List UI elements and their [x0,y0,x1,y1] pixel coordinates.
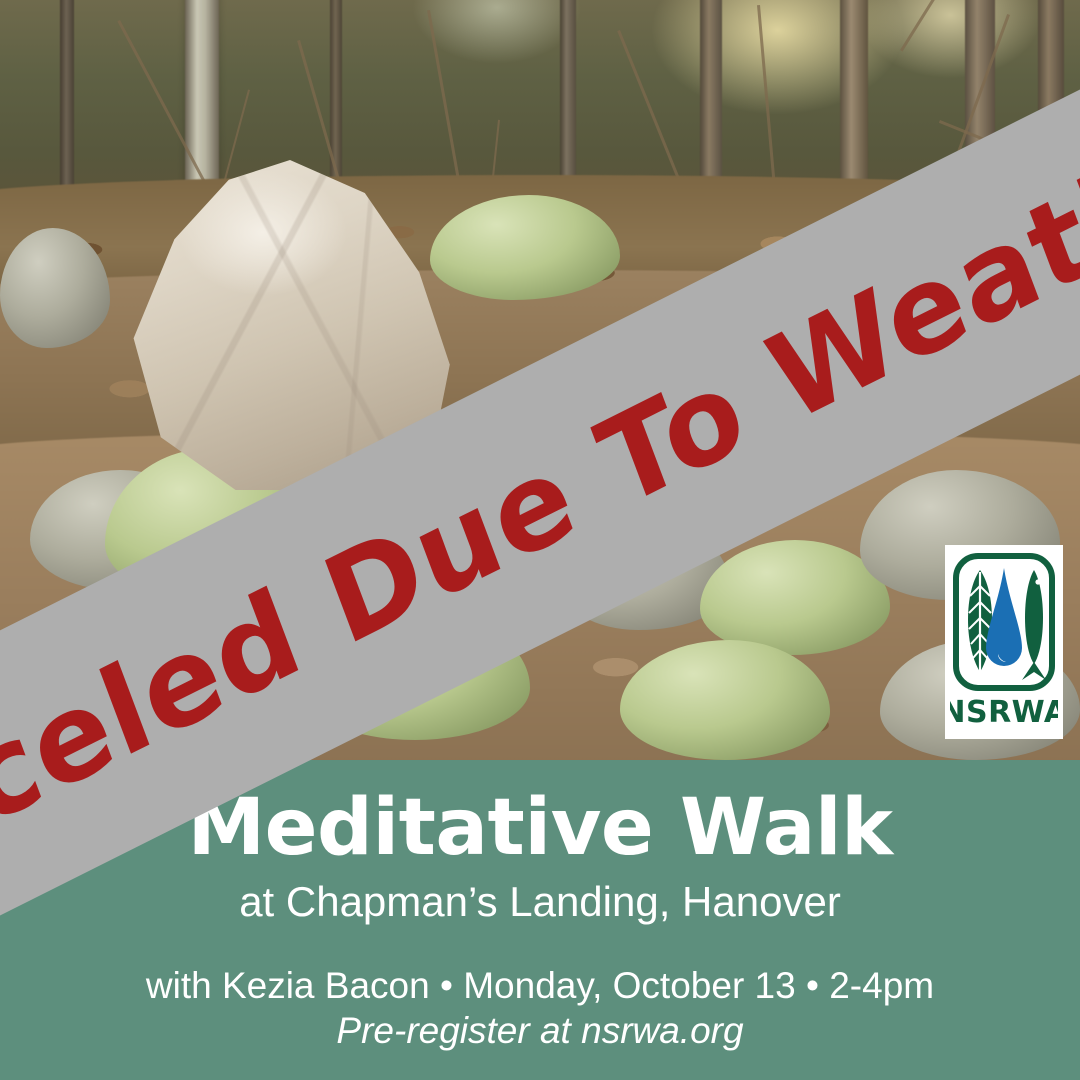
logo-wordmark: NSRWA [950,695,1058,730]
nsrwa-logo[interactable]: NSRWA [945,545,1063,739]
event-flyer: NSRWA Meditative Walk at Chapman’s Landi… [0,0,1080,1080]
tree-trunk [60,0,74,200]
fish-icon [1022,570,1046,680]
registration-note: Pre-register at nsrwa.org [0,1006,1080,1051]
branch [617,30,680,179]
event-details: with Kezia Bacon • Monday, October 13 • … [0,925,1080,1006]
branch [757,5,777,205]
event-location: at Chapman’s Landing, Hanover [0,866,1080,924]
leaf-icon [968,570,992,680]
